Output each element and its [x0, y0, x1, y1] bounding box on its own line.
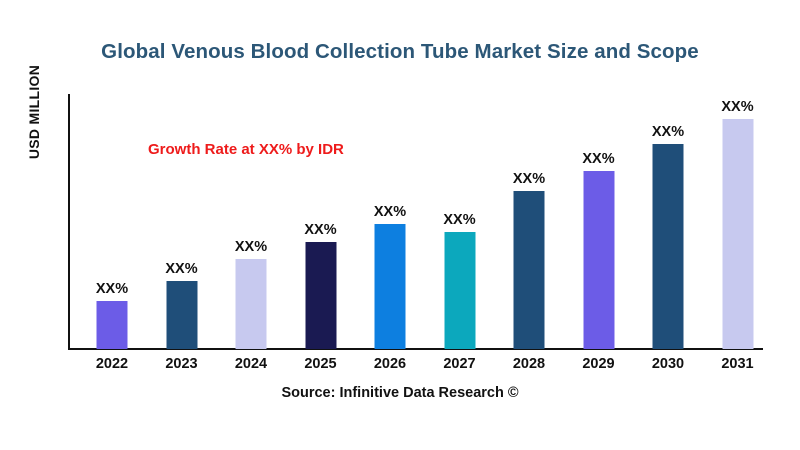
source-note: Source: Infinitive Data Research © [0, 385, 800, 401]
x-axis-tick: 2031 [706, 0, 770, 450]
x-axis-tick-label: 2029 [582, 356, 614, 372]
x-axis-tick-label: 2028 [513, 356, 545, 372]
x-axis-tick: 2022 [80, 0, 144, 450]
x-axis-tick: 2027 [428, 0, 492, 450]
x-axis-tick: 2026 [358, 0, 422, 450]
chart-figure: Global Venous Blood Collection Tube Mark… [0, 0, 800, 450]
x-axis-tick: 2025 [289, 0, 353, 450]
x-axis-tick-label: 2031 [721, 356, 753, 372]
x-axis-tick-label: 2025 [304, 356, 336, 372]
x-axis-tick-label: 2023 [165, 356, 197, 372]
x-axis-tick: 2024 [219, 0, 283, 450]
x-axis-tick: 2029 [567, 0, 631, 450]
y-axis-label: USD MILLION [26, 32, 42, 192]
x-axis-tick-label: 2030 [652, 356, 684, 372]
x-axis-tick-label: 2026 [374, 356, 406, 372]
x-axis-tick: 2028 [497, 0, 561, 450]
x-axis-tick-label: 2024 [235, 356, 267, 372]
x-axis-tick: 2023 [150, 0, 214, 450]
x-axis-tick-label: 2027 [443, 356, 475, 372]
x-axis-tick: 2030 [636, 0, 700, 450]
x-axis-tick-label: 2022 [96, 356, 128, 372]
